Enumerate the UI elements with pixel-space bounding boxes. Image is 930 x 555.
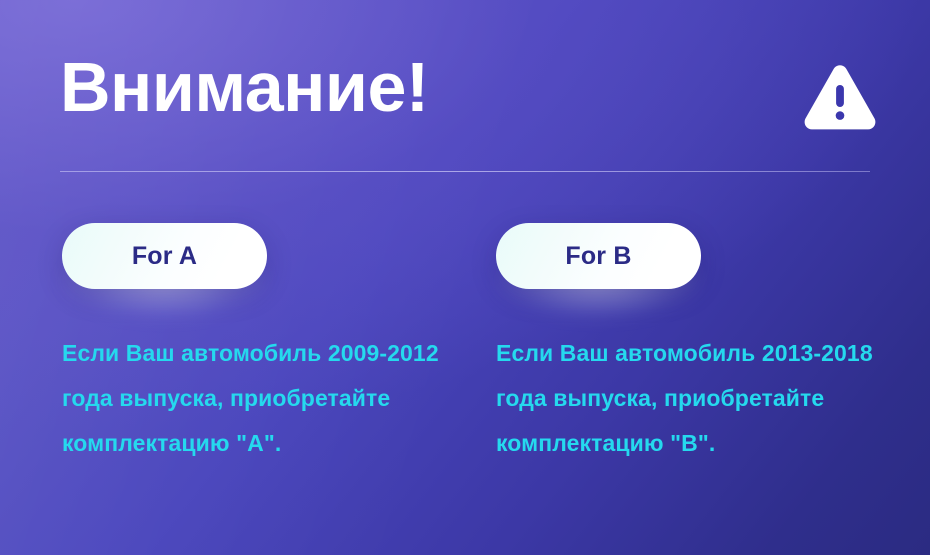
page-title: Внимание! (60, 52, 429, 122)
warning-triangle-icon (802, 62, 878, 132)
for-a-button-wrap: For A (62, 223, 267, 289)
banner-inner: Внимание! For A Если Ваш автомобиль 2009… (0, 0, 930, 555)
for-b-button-wrap: For B (496, 223, 701, 289)
for-b-description: Если Ваш автомобиль 2013-2018 года выпус… (496, 331, 886, 466)
for-a-description: Если Ваш автомобиль 2009-2012 года выпус… (62, 331, 452, 466)
header-divider (60, 171, 870, 172)
for-a-button[interactable]: For A (62, 223, 267, 289)
column-for-b: For B Если Ваш автомобиль 2013-2018 года… (496, 223, 896, 289)
attention-banner: Внимание! For A Если Ваш автомобиль 2009… (0, 0, 930, 555)
for-b-button[interactable]: For B (496, 223, 701, 289)
column-for-a: For A Если Ваш автомобиль 2009-2012 года… (62, 223, 462, 289)
